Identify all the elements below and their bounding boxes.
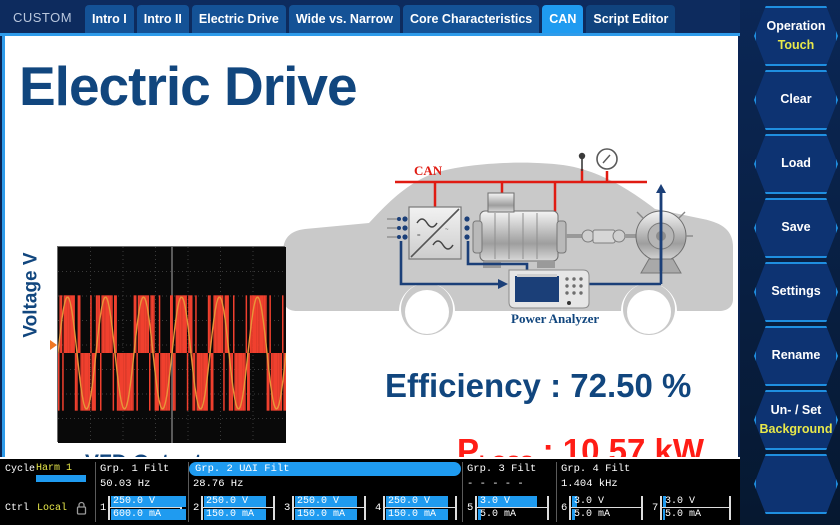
softkey-label: Settings	[771, 284, 820, 300]
oscilloscope-panel: Voltage V	[17, 206, 297, 451]
channel-voltage-range: 3.0 V	[663, 496, 735, 507]
status-control-column: Cycle Harm 1 Ctrl Local	[0, 459, 95, 525]
channel-4[interactable]: 4250.0 V150.0 mA	[375, 495, 463, 521]
channel-current-text: 5.0 mA	[480, 509, 516, 520]
channel-current-range: 5.0 mA	[663, 509, 735, 520]
channel-5[interactable]: 53.0 V5.0 mA	[467, 495, 555, 521]
svg-text:=: =	[417, 233, 421, 239]
group-frequency-2: 28.76 Hz	[193, 478, 243, 490]
group-frequency-4: 1.404 kHz	[561, 478, 618, 490]
application-root: CUSTOM Intro IIntro IIElectric DriveWide…	[0, 0, 840, 525]
channel-number: 5	[467, 502, 473, 514]
channel-voltage-range: 250.0 V	[204, 496, 279, 507]
softkey-save[interactable]: Save	[754, 198, 838, 258]
main-canvas: Electric Drive	[2, 36, 738, 457]
channel-axis-line	[202, 507, 273, 508]
softkey-rename[interactable]: Rename	[754, 326, 838, 386]
channel-current-range: 150.0 mA	[204, 509, 279, 520]
channel-number: 7	[652, 502, 658, 514]
channel-voltage-text: 250.0 V	[206, 496, 248, 507]
channel-number: 4	[375, 502, 381, 514]
scope-y-axis-label: Voltage V	[21, 252, 43, 337]
softkey-label: Rename	[772, 348, 821, 364]
softkey-label: Load	[781, 156, 811, 172]
tab-script-editor[interactable]: Script Editor	[586, 5, 675, 33]
efficiency-value: 72.50 %	[570, 367, 691, 404]
page-title: Electric Drive	[19, 54, 357, 118]
channel-bracket-left	[108, 496, 110, 520]
channel-bracket-left	[383, 496, 385, 520]
tab-intro-i[interactable]: Intro I	[85, 5, 134, 33]
channel-1[interactable]: 1250.0 V600.0 mA	[100, 495, 188, 521]
group-header-2[interactable]: Grp. 2 UΔI Filt	[189, 462, 461, 476]
channel-voltage-text: 250.0 V	[113, 496, 155, 507]
group-header-3[interactable]: Grp. 3 Filt	[467, 463, 536, 475]
group-header-4[interactable]: Grp. 4 Filt	[561, 463, 630, 475]
channel-axis-line	[293, 507, 364, 508]
soft-key-sidebar: OperationTouchClearLoadSaveSettingsRenam…	[740, 0, 840, 525]
softkey-un-set[interactable]: Un- / SetBackground	[754, 390, 838, 450]
softkey-sublabel: Touch	[778, 38, 815, 54]
channel-bracket-left	[660, 496, 662, 520]
channel-current-range: 5.0 mA	[478, 509, 553, 520]
channel-axis-line	[384, 507, 455, 508]
channel-current-text: 150.0 mA	[206, 509, 254, 520]
softkey-clear[interactable]: Clear	[754, 70, 838, 130]
softkey-label: Operation	[766, 19, 825, 35]
tab-electric-drive[interactable]: Electric Drive	[192, 5, 286, 33]
channel-current-text: 600.0 mA	[113, 509, 161, 520]
channel-bracket-left	[292, 496, 294, 520]
custom-menu-label[interactable]: CUSTOM	[0, 10, 85, 33]
softkey-empty-7[interactable]	[754, 454, 838, 514]
power-analyzer-icon	[509, 270, 589, 308]
ctrl-value[interactable]: Local	[37, 503, 67, 514]
channel-current-range: 600.0 mA	[111, 509, 186, 520]
cycle-label: Cycle	[5, 464, 35, 475]
channel-current-range: 150.0 mA	[386, 509, 461, 520]
tab-can[interactable]: CAN	[542, 5, 583, 33]
sensor-icons	[579, 149, 617, 171]
channel-current-text: 5.0 mA	[665, 509, 701, 520]
channel-voltage-text: 250.0 V	[388, 496, 430, 507]
channel-bracket-left	[475, 496, 477, 520]
trigger-level-marker	[50, 340, 57, 350]
channel-6[interactable]: 63.0 V5.0 mA	[561, 495, 649, 521]
softkey-settings[interactable]: Settings	[754, 262, 838, 322]
channel-2[interactable]: 2250.0 V150.0 mA	[193, 495, 281, 521]
channel-voltage-range: 250.0 V	[295, 496, 370, 507]
inverter-icon: = ~	[409, 207, 461, 259]
svg-text:~: ~	[445, 227, 449, 233]
efficiency-readout: Efficiency : 72.50 %	[385, 367, 691, 405]
softkey-load[interactable]: Load	[754, 134, 838, 194]
channel-voltage-range: 250.0 V	[111, 496, 186, 507]
power-analyzer-label: Power Analyzer	[511, 311, 599, 326]
tab-wide-vs-narrow[interactable]: Wide vs. Narrow	[289, 5, 400, 33]
channel-axis-line	[661, 507, 729, 508]
channel-number: 1	[100, 502, 106, 514]
softkey-label: Un- / Set	[771, 403, 822, 419]
channel-current-text: 5.0 mA	[574, 509, 610, 520]
softkey-label: Save	[781, 220, 810, 236]
can-bus-label: CAN	[414, 163, 443, 178]
ctrl-label: Ctrl	[5, 503, 29, 514]
softkey-sublabel: Background	[760, 422, 833, 438]
channel-bracket-left	[201, 496, 203, 520]
channel-current-text: 150.0 mA	[388, 509, 436, 520]
tab-intro-ii[interactable]: Intro II	[137, 5, 189, 33]
cycle-value[interactable]: Harm 1	[36, 463, 72, 474]
channel-current-range: 150.0 mA	[295, 509, 370, 520]
group-frequency-3: - - - - -	[467, 478, 524, 490]
status-bar: Cycle Harm 1 Ctrl Local Grp. 1 Filt50.03…	[0, 459, 740, 525]
channel-axis-line	[109, 507, 180, 508]
channel-number: 6	[561, 502, 567, 514]
ploss-separator: :	[533, 432, 562, 457]
softkey-operation[interactable]: OperationTouch	[754, 6, 838, 66]
channel-voltage-range: 3.0 V	[478, 496, 553, 507]
tab-bar: CUSTOM Intro IIntro IIElectric DriveWide…	[0, 0, 740, 33]
channel-voltage-text: 3.0 V	[574, 496, 604, 507]
tab-core-characteristics[interactable]: Core Characteristics	[403, 5, 539, 33]
channel-axis-line	[476, 507, 547, 508]
channel-voltage-range: 3.0 V	[572, 496, 647, 507]
status-divider-4	[556, 462, 557, 522]
channel-7[interactable]: 73.0 V5.0 mA	[652, 495, 737, 521]
group-frequency-1: 50.03 Hz	[100, 478, 150, 490]
channel-current-range: 5.0 mA	[572, 509, 647, 520]
softkey-label: Clear	[780, 92, 811, 108]
group-header-1[interactable]: Grp. 1 Filt	[100, 463, 169, 475]
channel-number: 2	[193, 502, 199, 514]
channel-voltage-text: 3.0 V	[665, 496, 695, 507]
vehicle-diagram: CAN = ~	[283, 131, 733, 346]
efficiency-label: Efficiency :	[385, 367, 570, 404]
ploss-symbol: P	[457, 432, 479, 457]
channel-bracket-left	[569, 496, 571, 520]
channel-number: 3	[284, 502, 290, 514]
channel-voltage-text: 3.0 V	[480, 496, 510, 507]
lock-icon[interactable]	[76, 501, 87, 520]
channel-axis-line	[570, 507, 641, 508]
cycle-progress-bar	[36, 475, 86, 482]
channel-3[interactable]: 3250.0 V150.0 mA	[284, 495, 372, 521]
status-divider-1	[95, 462, 96, 522]
channel-voltage-text: 250.0 V	[297, 496, 339, 507]
scope-display[interactable]	[57, 246, 285, 442]
ploss-value: 10.57 kW	[563, 432, 704, 457]
power-loss-readout: PLOSS : 10.57 kW	[457, 432, 704, 457]
channel-current-text: 150.0 mA	[297, 509, 345, 520]
channel-voltage-range: 250.0 V	[386, 496, 461, 507]
